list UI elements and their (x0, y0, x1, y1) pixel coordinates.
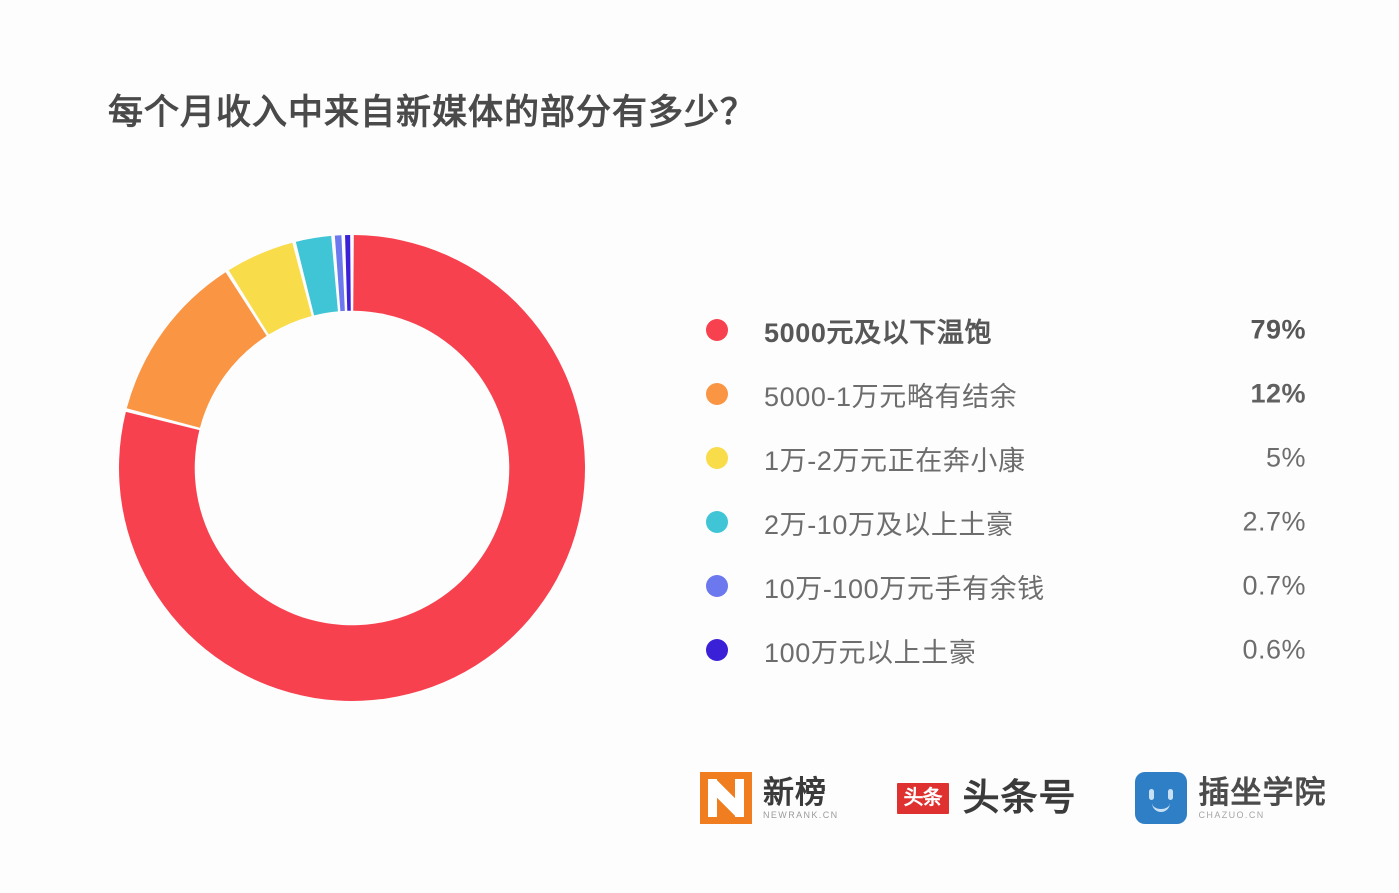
donut-chart (118, 234, 586, 702)
chart-legend: 5000元及以下温饱 79% 5000-1万元略有结余 12% 1万-2万元正在… (706, 298, 1306, 682)
toutiao-name-cn: 头条号 (963, 779, 1077, 817)
legend-label-3: 2万-10万及以上土豪 (764, 503, 1014, 542)
chazuo-name-cn: 插坐学院 (1199, 775, 1327, 810)
legend-label-2: 1万-2万元正在奔小康 (764, 439, 1026, 478)
legend-value-4: 0.7% (1242, 571, 1306, 602)
legend-swatch-icon-4 (706, 575, 728, 597)
legend-item-5[interactable]: 100万元以上土豪 0.6% (706, 618, 1306, 682)
logo-toutiaohao: 头条 头条号 (897, 779, 1077, 817)
donut-slice-group (119, 235, 585, 701)
legend-label-4: 10万-100万元手有余钱 (764, 567, 1045, 606)
page-title: 每个月收入中来自新媒体的部分有多少？ (108, 84, 756, 135)
legend-label-1: 5000-1万元略有结余 (764, 375, 1017, 414)
legend-value-2: 5% (1266, 443, 1306, 474)
legend-item-3[interactable]: 2万-10万及以上土豪 2.7% (706, 490, 1306, 554)
chazuo-name-en: CHAZUO.CN (1199, 810, 1327, 821)
legend-value-0: 79% (1250, 315, 1306, 346)
legend-item-0[interactable]: 5000元及以下温饱 79% (706, 298, 1306, 362)
legend-label-0: 5000元及以下温饱 (764, 311, 992, 350)
chazuo-eye-left-icon (1149, 789, 1154, 800)
newrank-mark-icon (700, 772, 752, 824)
chazuo-wordmark: 插坐学院 CHAZUO.CN (1199, 776, 1327, 821)
footer-logo-bar: 新榜 NEWRANK.CN 头条 头条号 插坐学院 CHAZUO.CN (700, 772, 1327, 824)
chazuo-smile-icon (1152, 801, 1170, 812)
legend-value-1: 12% (1250, 379, 1306, 410)
legend-value-3: 2.7% (1242, 507, 1306, 538)
legend-swatch-icon-2 (706, 447, 728, 469)
newrank-name-en: NEWRANK.CN (763, 810, 839, 821)
newrank-name-cn: 新榜 (763, 775, 827, 810)
toutiao-mark-icon: 头条 (897, 783, 949, 814)
legend-label-5: 100万元以上土豪 (764, 631, 976, 670)
legend-swatch-icon-3 (706, 511, 728, 533)
legend-swatch-icon-5 (706, 639, 728, 661)
donut-slice-5[interactable] (345, 235, 351, 311)
legend-swatch-icon-0 (706, 319, 728, 341)
chazuo-face-icon (1135, 772, 1187, 824)
legend-item-1[interactable]: 5000-1万元略有结余 12% (706, 362, 1306, 426)
legend-item-4[interactable]: 10万-100万元手有余钱 0.7% (706, 554, 1306, 618)
legend-item-2[interactable]: 1万-2万元正在奔小康 5% (706, 426, 1306, 490)
chazuo-eye-right-icon (1168, 789, 1173, 800)
legend-value-5: 0.6% (1242, 635, 1306, 666)
logo-newrank: 新榜 NEWRANK.CN (700, 772, 839, 824)
legend-swatch-icon-1 (706, 383, 728, 405)
newrank-wordmark: 新榜 NEWRANK.CN (763, 776, 839, 821)
donut-chart-svg (118, 234, 586, 702)
logo-chazuo: 插坐学院 CHAZUO.CN (1135, 772, 1327, 824)
